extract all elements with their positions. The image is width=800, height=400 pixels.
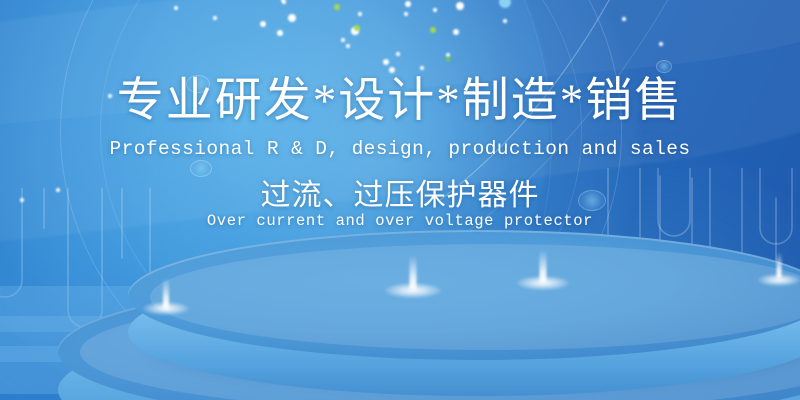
sparkle-particle (446, 57, 451, 62)
halo-accent (190, 160, 212, 177)
sparkle-particle (405, 1, 412, 8)
sparkle-particle (383, 59, 389, 65)
sparkle-particle (288, 14, 296, 22)
sparkle-particle (404, 12, 409, 17)
sparkle-particle (420, 66, 424, 70)
sparkle-particle (453, 29, 459, 35)
sparkle-particle (433, 8, 437, 12)
sparkle-particle (213, 16, 217, 20)
sparkle-particle (622, 17, 626, 21)
headline-chinese: 专业研发*设计*制造*销售 (0, 72, 800, 130)
sparkle-particle (499, 0, 511, 8)
sparkle-particle (260, 21, 266, 27)
sparkle-particle (659, 42, 663, 46)
sparkle-particle (396, 52, 400, 56)
sparkle-particle (503, 19, 507, 23)
subheadline-english: Over current and over voltage protector (0, 210, 800, 232)
sparkle-particle (341, 38, 345, 42)
headline-english: Professional R & D, design, production a… (0, 136, 800, 162)
sparkle-particle (430, 27, 437, 34)
sparkle-particle (456, 2, 464, 10)
sparkle-particle (277, 30, 283, 36)
sparkle-particle (174, 6, 179, 11)
sparkle-particle (358, 12, 362, 16)
sparkle-particle (282, 0, 286, 4)
sparkle-particle (354, 25, 360, 31)
sparkle-particle (334, 4, 340, 10)
sparkle-particle (346, 44, 350, 48)
promo-banner: 专业研发*设计*制造*销售 Professional R & D, design… (0, 0, 800, 400)
